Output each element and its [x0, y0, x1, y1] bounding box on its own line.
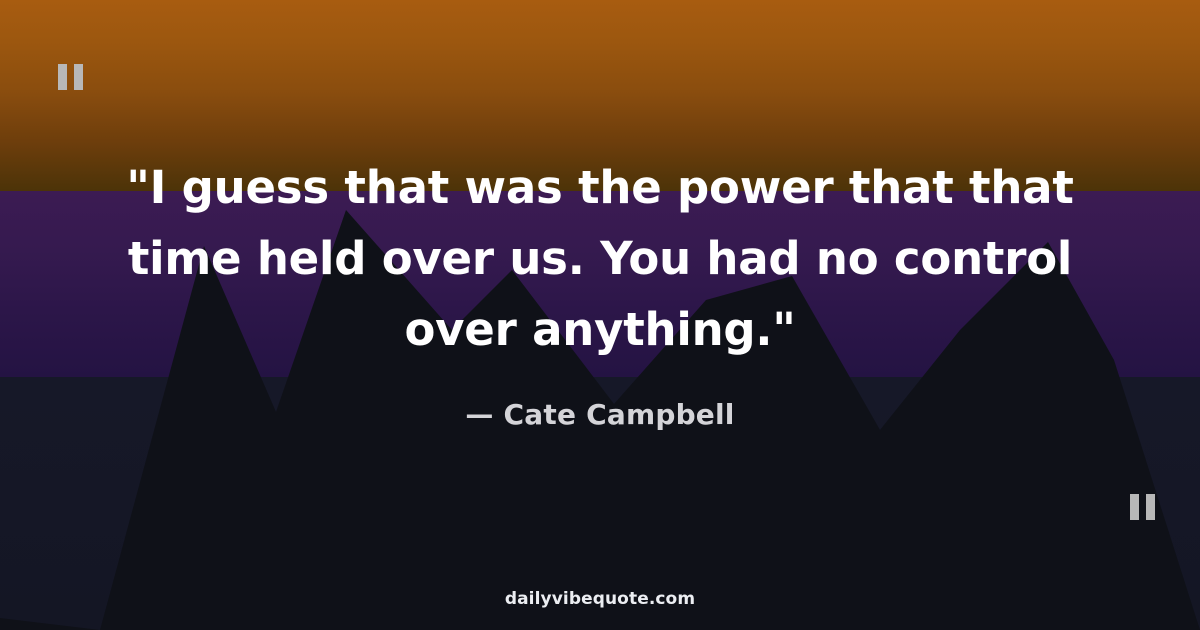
quote-attribution: — Cate Campbell — [0, 398, 1200, 431]
site-watermark: dailyvibequote.com — [0, 589, 1200, 609]
card-content: "I guess that was the power that that ti… — [0, 0, 1200, 630]
quote-text: "I guess that was the power that that ti… — [80, 152, 1120, 365]
quote-card: "I guess that was the power that that ti… — [0, 0, 1200, 630]
